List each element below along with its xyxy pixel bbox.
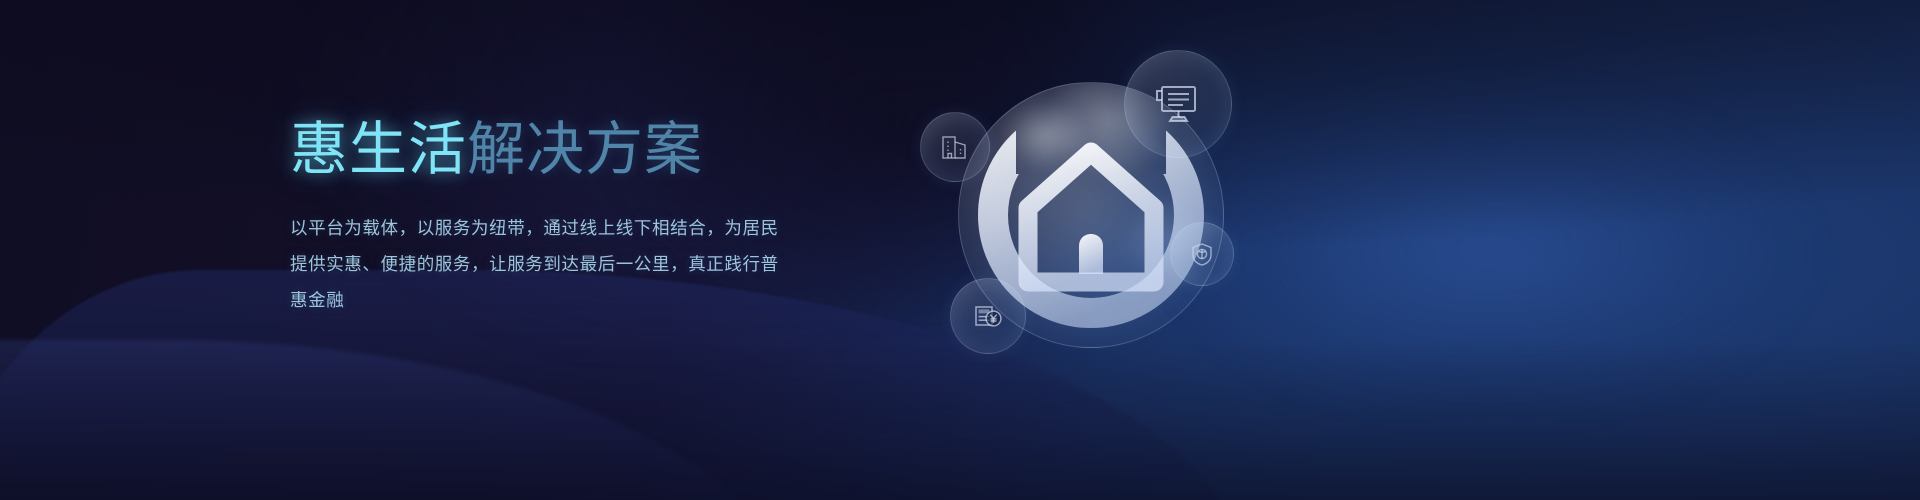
emblem-highlight-top: [1002, 100, 1088, 170]
hero-description: 以平台为载体，以服务为纽带，通过线上线下相结合，为居民 提供实惠、便捷的服务，让…: [290, 211, 870, 319]
page-title: 惠生活解决方案: [290, 118, 890, 183]
description-line: 以平台为载体，以服务为纽带，通过线上线下相结合，为居民: [290, 211, 870, 247]
hero-text-block: 惠生活解决方案 以平台为载体，以服务为纽带，通过线上线下相结合，为居民 提供实惠…: [290, 118, 890, 319]
house-emblem: [958, 82, 1224, 348]
emblem-highlight-center: [1120, 194, 1216, 290]
description-line: 提供实惠、便捷的服务，让服务到达最后一公里，真正践行普: [290, 247, 870, 283]
hero-banner: 惠生活解决方案 以平台为载体，以服务为纽带，通过线上线下相结合，为居民 提供实惠…: [0, 0, 1920, 500]
description-line: 惠金融: [290, 283, 870, 319]
page-title-dim: 解决方案: [467, 117, 703, 182]
hero-graphic: [920, 40, 1280, 370]
page-title-bright: 惠生活: [290, 117, 467, 182]
